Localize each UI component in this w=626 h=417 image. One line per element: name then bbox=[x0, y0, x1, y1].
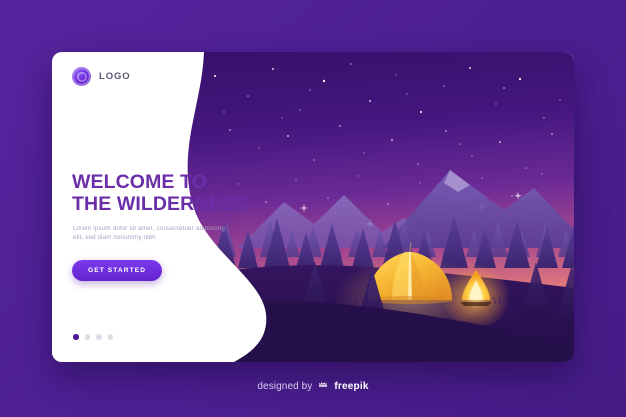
page-title: WELCOME TO THE WILDERNESS bbox=[72, 172, 248, 215]
body-paragraph: Lorem ipsum dolor sit amet, consectetuer… bbox=[73, 224, 225, 243]
get-started-button[interactable]: GET STARTED bbox=[72, 260, 162, 281]
carousel-dot-2[interactable] bbox=[85, 334, 91, 340]
logo-circle-icon bbox=[72, 67, 91, 86]
footer-attribution: designed by freepik bbox=[0, 380, 626, 392]
hero-content: LOGO WELCOME TO THE WILDERNESS Lorem ips… bbox=[52, 52, 574, 362]
logo-text: LOGO bbox=[99, 71, 131, 82]
hero-card: LOGO WELCOME TO THE WILDERNESS Lorem ips… bbox=[52, 52, 574, 362]
freepik-logo-icon bbox=[317, 380, 329, 392]
footer-brand: freepik bbox=[334, 381, 368, 392]
carousel-dots bbox=[73, 334, 113, 340]
page-background: LOGO WELCOME TO THE WILDERNESS Lorem ips… bbox=[0, 0, 626, 417]
carousel-dot-4[interactable] bbox=[108, 334, 114, 340]
footer-prefix: designed by bbox=[257, 381, 312, 392]
carousel-dot-3[interactable] bbox=[96, 334, 102, 340]
carousel-dot-1[interactable] bbox=[73, 334, 79, 340]
freepik-logo-svg bbox=[317, 380, 329, 392]
brand-logo[interactable]: LOGO bbox=[72, 67, 131, 86]
